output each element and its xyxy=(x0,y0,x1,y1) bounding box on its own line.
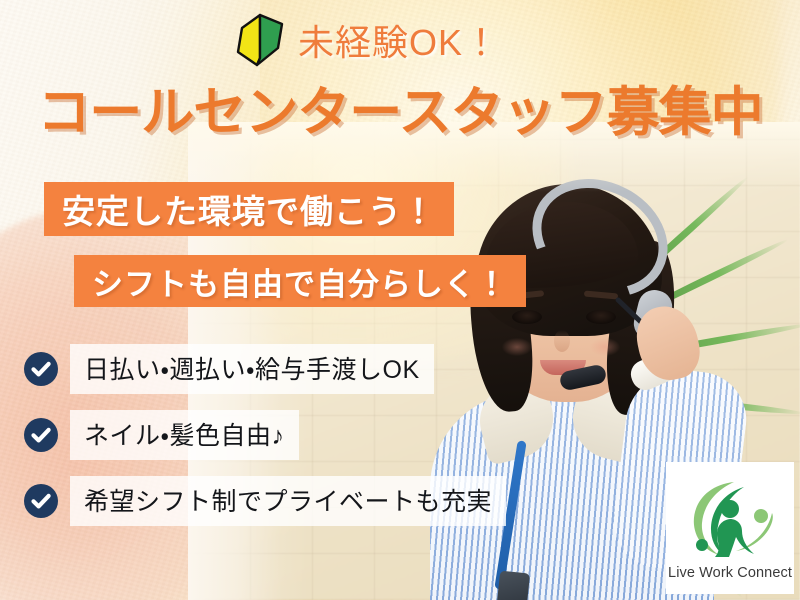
check-circle-icon xyxy=(24,352,58,386)
list-item: 日払い・週払い・給与手渡しOK xyxy=(24,344,506,394)
experience-badge-text: 未経験OK！ xyxy=(298,14,500,66)
list-item: ネイル・髪色自由♪ xyxy=(24,410,506,460)
highlight-band-flexible-shift: シフトも自由で自分らしく！ xyxy=(74,255,526,307)
recruitment-banner: 未経験OK！ コールセンタースタッフ募集中 安定した環境で働こう！ シフトも自由… xyxy=(0,0,800,600)
check-circle-icon xyxy=(24,418,58,452)
young-leaf-icon xyxy=(234,12,288,68)
banner-content: 未経験OK！ コールセンタースタッフ募集中 安定した環境で働こう！ シフトも自由… xyxy=(0,0,800,600)
benefit-label: 日払い・週払い・給与手渡しOK xyxy=(70,344,434,394)
highlight-band-stable-environment: 安定した環境で働こう！ xyxy=(44,182,454,236)
company-name: Live Work Connect xyxy=(668,565,792,581)
benefit-label: ネイル・髪色自由♪ xyxy=(70,410,299,460)
page-title: コールセンタースタッフ募集中 xyxy=(0,70,800,146)
benefit-label: 希望シフト制でプライベートも充実 xyxy=(70,476,506,526)
company-logo: Live Work Connect xyxy=(666,462,794,594)
experience-badge: 未経験OK！ xyxy=(234,12,500,68)
list-item: 希望シフト制でプライベートも充実 xyxy=(24,476,506,526)
benefit-list: 日払い・週払い・給与手渡しOK ネイル・髪色自由♪ 希望シフト制でプライベートも… xyxy=(24,344,506,542)
check-circle-icon xyxy=(24,484,58,518)
person-swoosh-logo-icon xyxy=(684,479,776,561)
